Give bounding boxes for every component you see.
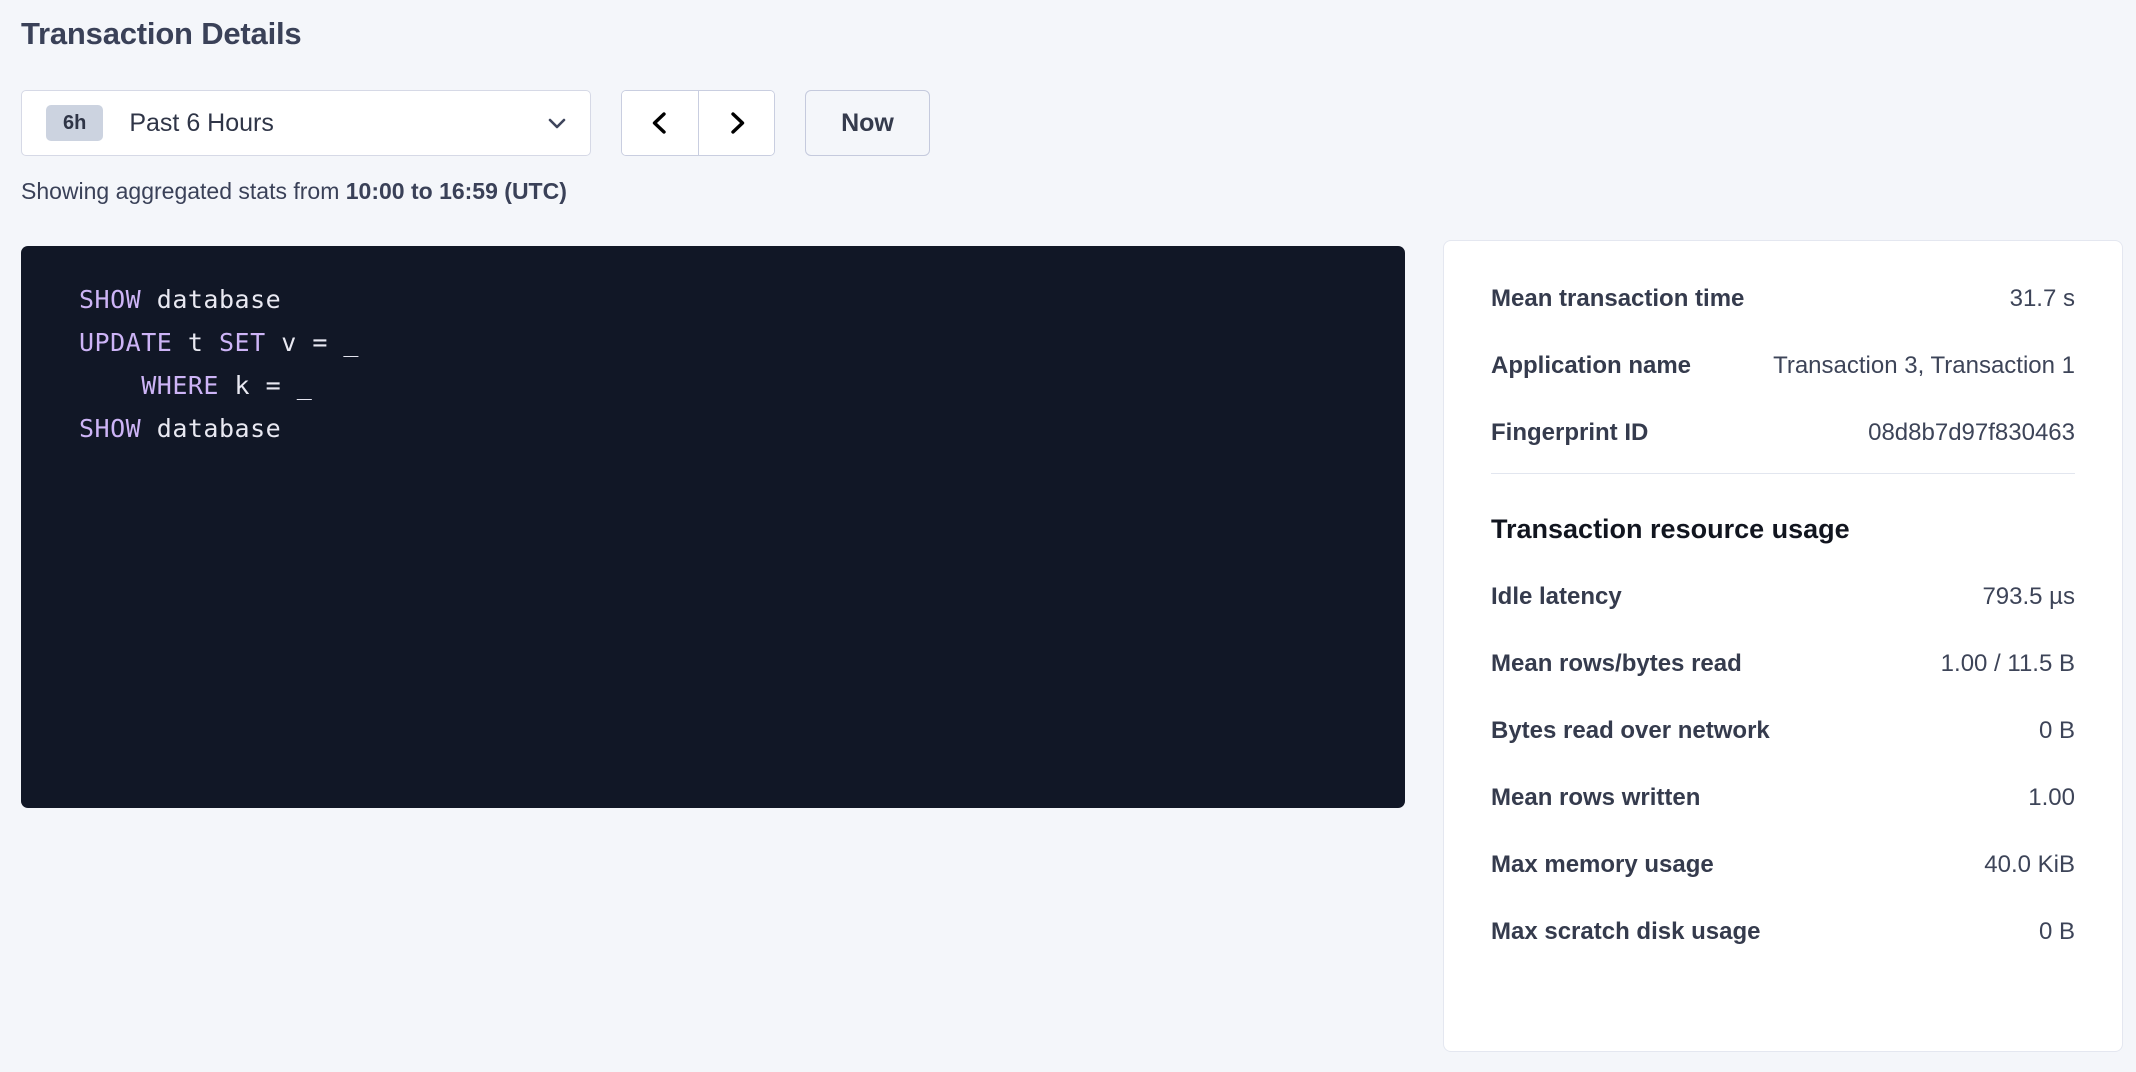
sql-token-op <box>203 328 219 357</box>
stat-row: Bytes read over network0 B <box>1491 717 2075 745</box>
time-nav-group <box>621 90 775 156</box>
overview-stats-list: Mean transaction time31.7 sApplication n… <box>1491 285 2075 447</box>
sql-token-op <box>79 371 141 400</box>
stat-row: Max scratch disk usage0 B <box>1491 918 2075 946</box>
stat-row: Idle latency793.5 µs <box>1491 583 2075 611</box>
sql-token-id: k <box>235 371 251 400</box>
stat-row: Max memory usage40.0 KiB <box>1491 851 2075 879</box>
stat-value: 0 B <box>2039 717 2075 745</box>
aggregation-note-range: 10:00 to 16:59 (UTC) <box>346 178 567 204</box>
previous-period-button[interactable] <box>622 91 698 155</box>
stat-label: Application name <box>1491 352 1691 380</box>
sql-token-kw: SHOW <box>79 414 141 443</box>
transaction-summary-card: Mean transaction time31.7 sApplication n… <box>1443 240 2123 1052</box>
sql-token-op <box>141 285 157 314</box>
sql-line: SHOW database <box>79 278 1405 321</box>
stat-value: 0 B <box>2039 918 2075 946</box>
stat-label: Mean rows written <box>1491 784 1700 812</box>
chevron-down-icon <box>546 112 568 134</box>
stat-value: 1.00 <box>2028 784 2075 812</box>
sql-token-kw: UPDATE <box>79 328 172 357</box>
stat-row: Fingerprint ID08d8b7d97f830463 <box>1491 419 2075 447</box>
sql-token-op <box>219 371 235 400</box>
stat-row: Mean rows/bytes read1.00 / 11.5 B <box>1491 650 2075 678</box>
time-range-toolbar: 6h Past 6 Hours <box>21 90 930 156</box>
time-range-label: Past 6 Hours <box>129 109 546 138</box>
stat-label: Bytes read over network <box>1491 717 1770 745</box>
stat-value: 1.00 / 11.5 B <box>1941 650 2075 678</box>
sql-token-id: database <box>157 285 281 314</box>
stat-label: Max scratch disk usage <box>1491 918 1760 946</box>
sql-token-op <box>141 414 157 443</box>
sql-token-kw: WHERE <box>141 371 219 400</box>
stat-value: 40.0 KiB <box>1984 851 2075 879</box>
stat-label: Fingerprint ID <box>1491 419 1648 447</box>
sql-token-op <box>266 328 282 357</box>
sql-token-kw: SET <box>219 328 266 357</box>
stat-row: Mean rows written1.00 <box>1491 784 2075 812</box>
transaction-details-page: Transaction Details 6h Past 6 Hours <box>0 0 2136 1072</box>
stat-value: 31.7 s <box>2010 285 2075 313</box>
stat-value: 793.5 µs <box>1982 583 2075 611</box>
sql-token-kw: SHOW <box>79 285 141 314</box>
page-title: Transaction Details <box>21 16 301 52</box>
stat-label: Idle latency <box>1491 583 1622 611</box>
stat-label: Mean transaction time <box>1491 285 1744 313</box>
sql-statement-panel: SHOW databaseUPDATE t SET v = _ WHERE k … <box>21 246 1405 808</box>
sql-line: WHERE k = _ <box>79 364 1405 407</box>
stat-value: 08d8b7d97f830463 <box>1868 419 2075 447</box>
sql-token-op <box>172 328 188 357</box>
stat-row: Application nameTransaction 3, Transacti… <box>1491 352 2075 380</box>
resource-usage-heading: Transaction resource usage <box>1491 514 2075 545</box>
next-period-button[interactable] <box>698 91 774 155</box>
time-range-select[interactable]: 6h Past 6 Hours <box>21 90 591 156</box>
aggregation-note-prefix: Showing aggregated stats from <box>21 178 346 204</box>
summary-divider <box>1491 473 2075 474</box>
chevron-right-icon <box>722 108 752 138</box>
sql-token-id: v <box>281 328 297 357</box>
sql-token-op: = _ <box>250 371 312 400</box>
chevron-left-icon <box>645 108 675 138</box>
resource-usage-stats-list: Idle latency793.5 µsMean rows/bytes read… <box>1491 583 2075 946</box>
stat-label: Mean rows/bytes read <box>1491 650 1742 678</box>
sql-statement-code[interactable]: SHOW databaseUPDATE t SET v = _ WHERE k … <box>21 278 1405 450</box>
stat-value: Transaction 3, Transaction 1 <box>1773 352 2075 380</box>
time-range-badge: 6h <box>46 105 103 141</box>
stat-row: Mean transaction time31.7 s <box>1491 285 2075 313</box>
sql-line: SHOW database <box>79 407 1405 450</box>
sql-token-op: = _ <box>297 328 359 357</box>
sql-token-id: t <box>188 328 204 357</box>
aggregation-note: Showing aggregated stats from 10:00 to 1… <box>21 178 567 205</box>
sql-token-id: database <box>157 414 281 443</box>
stat-label: Max memory usage <box>1491 851 1714 879</box>
sql-line: UPDATE t SET v = _ <box>79 321 1405 364</box>
now-button[interactable]: Now <box>805 90 930 156</box>
